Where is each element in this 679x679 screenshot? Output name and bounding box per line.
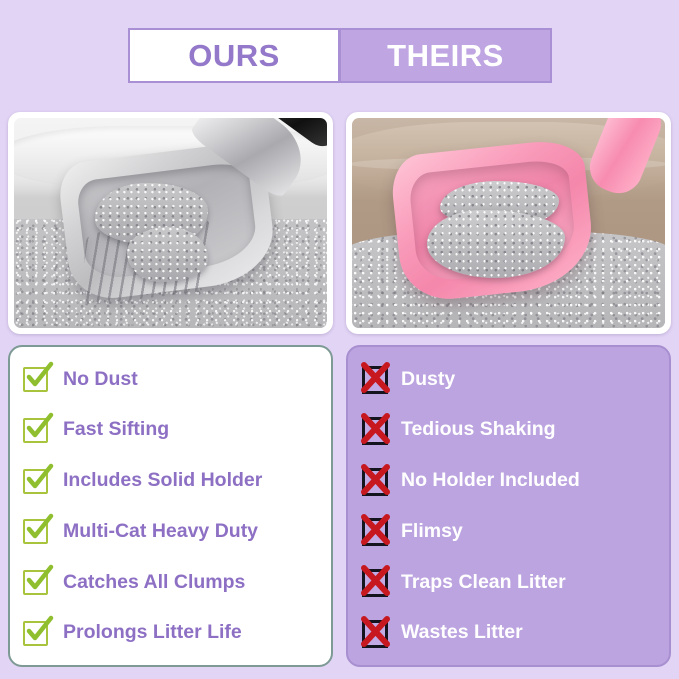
x-icon bbox=[360, 414, 390, 446]
feature-label: Traps Clean Litter bbox=[401, 571, 566, 594]
header-cell-theirs: THEIRS bbox=[340, 28, 552, 83]
feature-row: Fast Sifting bbox=[22, 411, 321, 449]
feature-label: Catches All Clumps bbox=[63, 571, 245, 594]
feature-row: Wastes Litter bbox=[360, 614, 659, 652]
feature-row: No Dust bbox=[22, 360, 321, 398]
feature-row: Catches All Clumps bbox=[22, 563, 321, 601]
feature-row: No Holder Included bbox=[360, 462, 659, 500]
product-photo-card-theirs bbox=[346, 112, 671, 334]
feature-row: Tedious Shaking bbox=[360, 411, 659, 449]
feature-label: No Holder Included bbox=[401, 469, 580, 492]
feature-label: Tedious Shaking bbox=[401, 418, 556, 441]
feature-list-ours: No Dust Fast Sifting Includes Solid Hold… bbox=[8, 345, 333, 667]
feature-row: Dusty bbox=[360, 360, 659, 398]
column-ours: No Dust Fast Sifting Includes Solid Hold… bbox=[8, 112, 333, 667]
litter-clump bbox=[127, 227, 208, 282]
check-icon bbox=[22, 466, 52, 496]
x-icon bbox=[360, 465, 390, 497]
column-theirs: Dusty Tedious Shaking No Holder Included bbox=[346, 112, 671, 667]
product-photo-card-ours bbox=[8, 112, 333, 334]
comparison-header: OURS THEIRS bbox=[128, 28, 552, 83]
feature-label: Fast Sifting bbox=[63, 418, 169, 441]
header-label-ours: OURS bbox=[188, 38, 280, 74]
x-icon bbox=[360, 566, 390, 598]
check-icon bbox=[22, 415, 52, 445]
product-photo-theirs bbox=[352, 118, 665, 328]
check-icon bbox=[22, 516, 52, 546]
feature-label: Multi-Cat Heavy Duty bbox=[63, 520, 258, 543]
feature-label: Wastes Litter bbox=[401, 621, 523, 644]
product-photo-ours bbox=[14, 118, 327, 328]
feature-row: Includes Solid Holder bbox=[22, 462, 321, 500]
header-label-theirs: THEIRS bbox=[387, 38, 504, 74]
x-icon bbox=[360, 617, 390, 649]
feature-row: Flimsy bbox=[360, 512, 659, 550]
feature-label: Prolongs Litter Life bbox=[63, 621, 242, 644]
x-icon bbox=[360, 515, 390, 547]
header-cell-ours: OURS bbox=[128, 28, 340, 83]
check-icon bbox=[22, 618, 52, 648]
x-icon bbox=[360, 363, 390, 395]
check-icon bbox=[22, 567, 52, 597]
feature-row: Multi-Cat Heavy Duty bbox=[22, 512, 321, 550]
feature-label: No Dust bbox=[63, 368, 138, 391]
check-icon bbox=[22, 364, 52, 394]
comparison-columns: No Dust Fast Sifting Includes Solid Hold… bbox=[0, 112, 679, 667]
feature-row: Prolongs Litter Life bbox=[22, 614, 321, 652]
feature-row: Traps Clean Litter bbox=[360, 563, 659, 601]
feature-label: Includes Solid Holder bbox=[63, 469, 262, 492]
feature-label: Dusty bbox=[401, 368, 455, 391]
feature-list-theirs: Dusty Tedious Shaking No Holder Included bbox=[346, 345, 671, 667]
feature-label: Flimsy bbox=[401, 520, 463, 543]
